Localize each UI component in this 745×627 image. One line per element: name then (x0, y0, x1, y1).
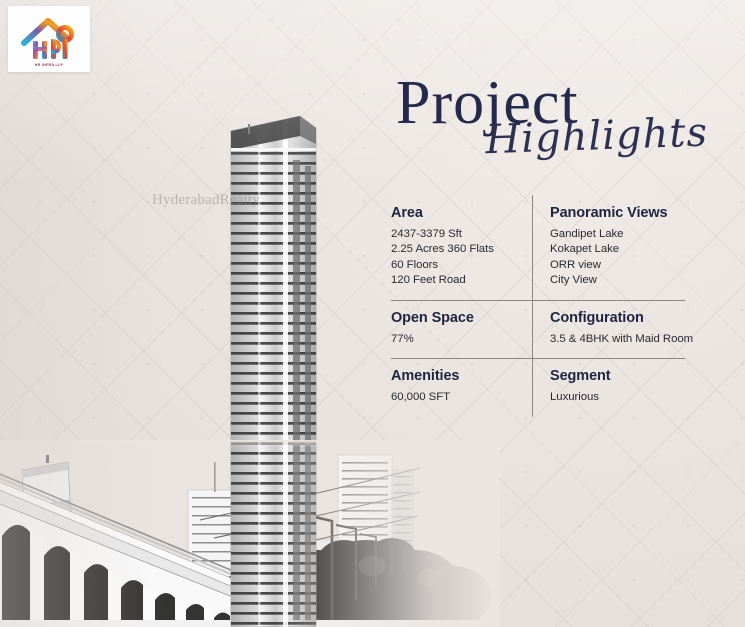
highlight-value: 77% (391, 332, 522, 347)
highlight-amenities: Amenities 60,000 SFT (391, 359, 532, 416)
column-divider (532, 300, 533, 359)
highlight-value: 60,000 SFT (391, 390, 522, 405)
highlight-heading: Segment (550, 368, 685, 384)
highlight-heading: Configuration (550, 310, 685, 326)
highlights-row: Area 2437-3379 Sft 2.25 Acres 360 Flats … (391, 196, 685, 300)
highlight-heading: Open Space (391, 310, 522, 326)
highlight-open-space: Open Space 77% (391, 301, 532, 358)
project-highlights-poster: HyderabadRealty (0, 0, 745, 627)
highlight-value: City View (550, 273, 685, 288)
highlight-value: 60 Floors (391, 258, 522, 273)
highlight-value: 3.5 & 4BHK with Maid Room (550, 332, 685, 347)
highlight-heading: Panoramic Views (550, 205, 685, 221)
brand-logo[interactable]: HR INFRA LLP (8, 6, 90, 72)
highlight-area: Area 2437-3379 Sft 2.25 Acres 360 Flats … (391, 196, 532, 300)
highlight-segment: Segment Luxurious (532, 359, 685, 416)
highlights-grid: Area 2437-3379 Sft 2.25 Acres 360 Flats … (391, 196, 685, 416)
highlight-value: 2.25 Acres 360 Flats (391, 242, 522, 257)
highlights-row: Open Space 77% Configuration 3.5 & 4BHK … (391, 300, 685, 358)
highlight-heading: Amenities (391, 368, 522, 384)
highlight-value: Luxurious (550, 390, 685, 405)
logo-wordmark: HR INFRA LLP (8, 63, 90, 67)
highlights-row: Amenities 60,000 SFT Segment Luxurious (391, 358, 685, 416)
house-logo-icon (18, 13, 80, 65)
watermark-text: HyderabadRealty (152, 192, 260, 209)
highlight-value: ORR view (550, 258, 685, 273)
highlight-value: 120 Feet Road (391, 273, 522, 288)
highlight-panoramic-views: Panoramic Views Gandipet Lake Kokapet La… (532, 196, 685, 300)
column-divider (532, 358, 533, 417)
highlight-configuration: Configuration 3.5 & 4BHK with Maid Room (532, 301, 685, 358)
highlight-heading: Area (391, 205, 522, 221)
highlight-value: Gandipet Lake (550, 227, 685, 242)
poster-title: Project Highlights (390, 72, 720, 182)
column-divider (532, 195, 533, 301)
highlight-value: Kokapet Lake (550, 242, 685, 257)
highlight-value: 2437-3379 Sft (391, 227, 522, 242)
